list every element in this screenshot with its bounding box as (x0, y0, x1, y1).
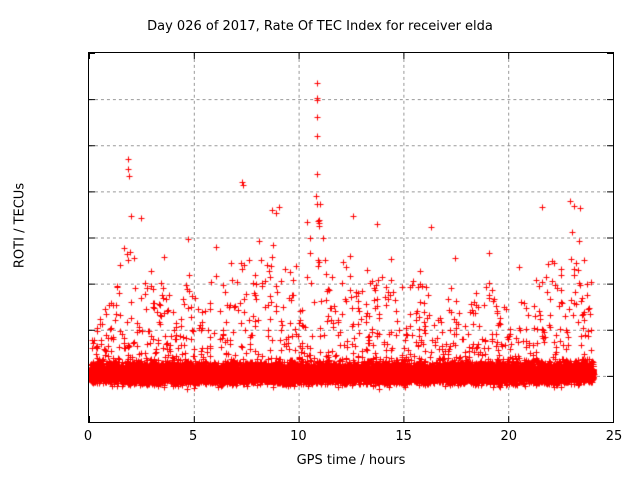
x-tick-label-text: 25 (606, 429, 623, 444)
x-tick-label-text: 20 (501, 429, 518, 444)
chart-figure: Day 026 of 2017, Rate Of TEC Index for r… (0, 0, 640, 480)
x-tick-label-text: 5 (189, 429, 197, 444)
x-axis-title: GPS time / hours (88, 453, 614, 468)
chart-title: Day 026 of 2017, Rate Of TEC Index for r… (0, 19, 640, 34)
x-tick-label-text: 15 (395, 429, 412, 444)
scatter-points (89, 53, 614, 423)
x-tick-label-text: 0 (84, 429, 92, 444)
y-axis-title: ROTI / TECUs (13, 146, 28, 306)
plot-area (88, 52, 614, 423)
x-tick-label-text: 10 (290, 429, 307, 444)
